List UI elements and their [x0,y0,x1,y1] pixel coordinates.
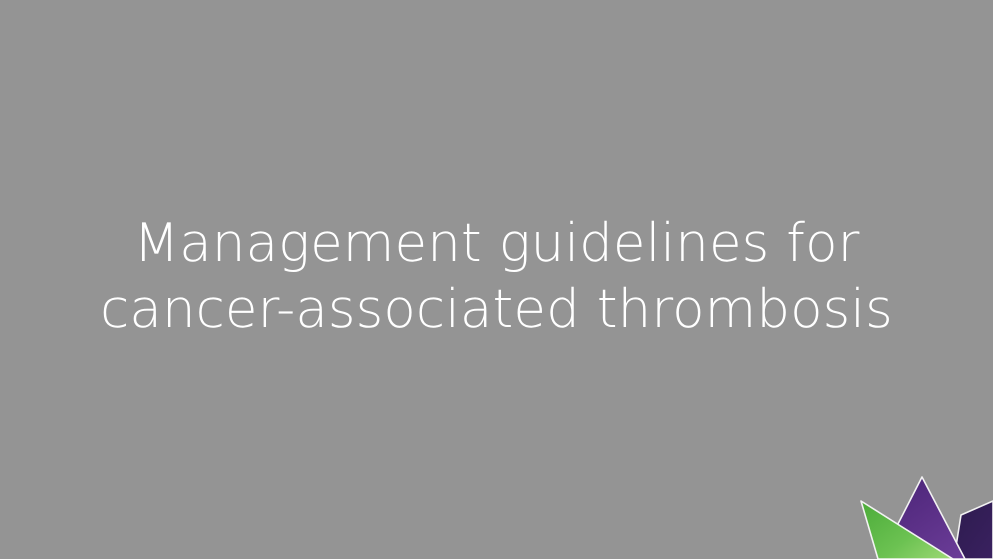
page-title: Management guidelines for cancer-associa… [100,211,893,343]
title-text-block: Management guidelines for cancer-associa… [0,0,993,559]
title-slide: Management guidelines for cancer-associa… [0,0,993,559]
